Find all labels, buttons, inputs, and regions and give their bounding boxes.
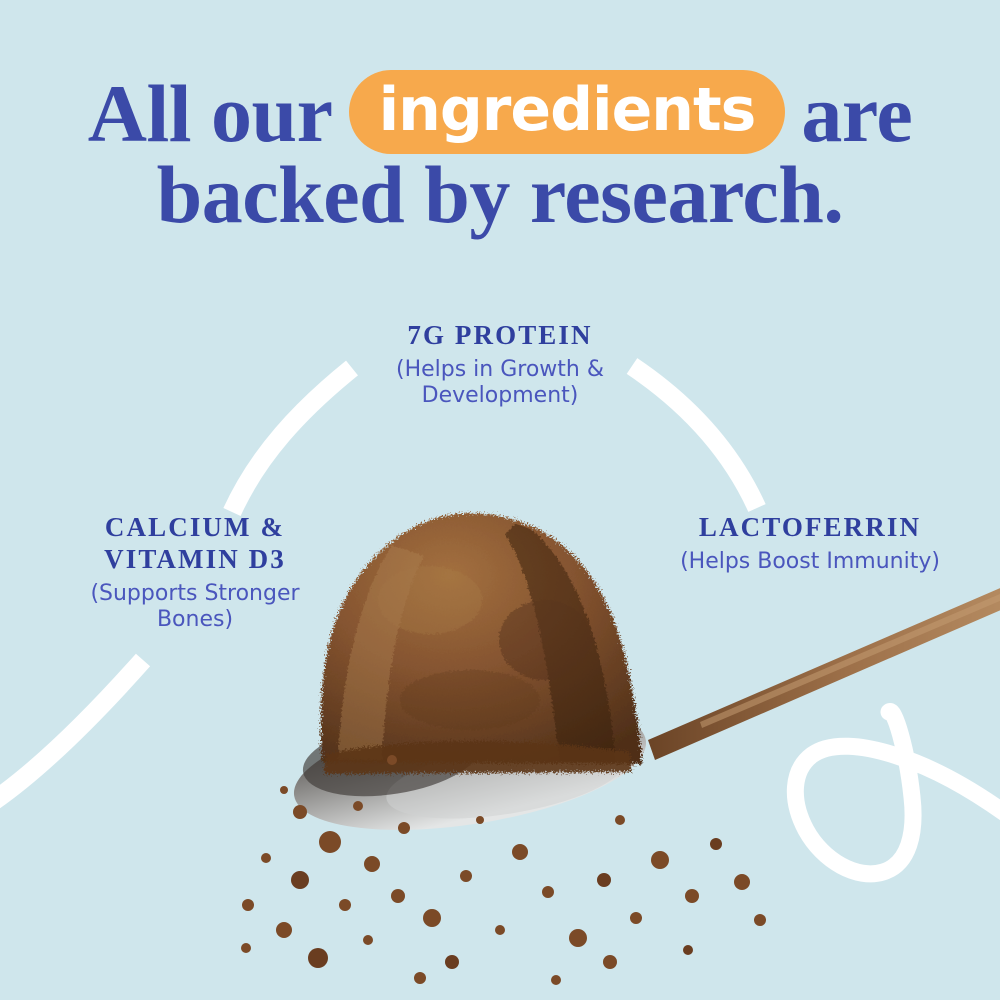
ingredient-label-protein: 7G PROTEIN (Helps in Growth & Developmen… <box>330 320 670 409</box>
spoon-bowl <box>285 685 654 851</box>
ingredient-subtitle: (Supports Stronger Bones) <box>35 581 355 633</box>
headline-line-2: backed by research. <box>0 156 1000 235</box>
headline-part-2: are <box>801 75 912 154</box>
ingredient-title: CALCIUM & VITAMIN D3 <box>35 512 355 576</box>
ingredient-label-calcium: CALCIUM & VITAMIN D3 (Supports Stronger … <box>35 512 355 633</box>
ingredient-title: 7G PROTEIN <box>330 320 670 352</box>
ingredient-title: LACTOFERRIN <box>630 512 990 544</box>
arc-lower-left <box>0 660 143 805</box>
headline-part-1: All our <box>88 75 333 154</box>
ingredient-label-lactoferrin: LACTOFERRIN (Helps Boost Immunity) <box>630 512 990 575</box>
swirl-decoration <box>795 711 1000 873</box>
falling-powder <box>241 755 766 985</box>
spoon-handle <box>648 586 1000 760</box>
powder-mound <box>321 513 642 774</box>
headline-highlight-pill: ingredients <box>349 70 786 154</box>
page-title: All our ingredients are backed by resear… <box>0 72 1000 235</box>
ingredient-subtitle: (Helps in Growth & Development) <box>330 357 670 409</box>
ingredients-poster: All our ingredients are backed by resear… <box>0 0 1000 1000</box>
ingredient-subtitle: (Helps Boost Immunity) <box>630 549 990 575</box>
